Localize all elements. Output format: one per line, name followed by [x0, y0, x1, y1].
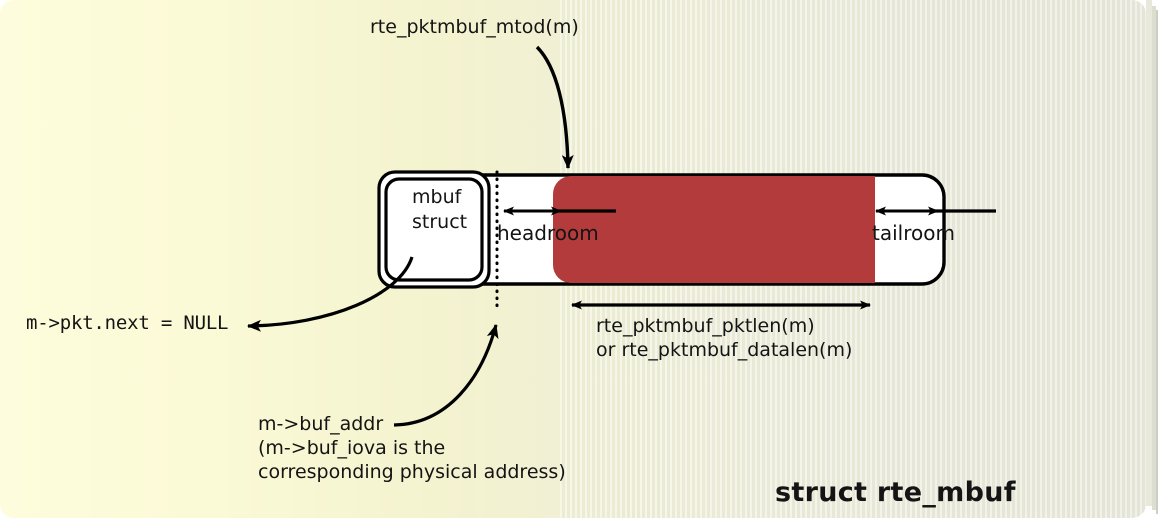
- label-mbuf-struct-2: struct: [412, 211, 467, 234]
- diagram-canvas: rte_pktmbuf_mtod(m) mbuf struct headroom…: [0, 0, 1158, 528]
- figure-title: struct rte_mbuf: [775, 477, 1016, 510]
- label-mtod: rte_pktmbuf_mtod(m): [370, 16, 579, 39]
- label-buf-addr-1: m->buf_addr: [258, 413, 383, 436]
- label-datalen: or rte_pktmbuf_datalen(m): [596, 339, 852, 362]
- label-pktlen: rte_pktmbuf_pktlen(m): [596, 315, 815, 338]
- diagram-card: [0, 0, 1146, 518]
- label-buf-addr-3: corresponding physical address): [258, 461, 566, 484]
- label-mbuf-struct-1: mbuf: [412, 186, 461, 209]
- label-pkt-next-null: m->pkt.next = NULL: [26, 312, 228, 335]
- label-headroom: headroom: [497, 221, 599, 245]
- label-buf-addr-2: (m->buf_iova is the: [258, 437, 445, 460]
- background-stripe-texture: [560, 0, 1146, 518]
- label-tailroom: tailroom: [872, 221, 955, 245]
